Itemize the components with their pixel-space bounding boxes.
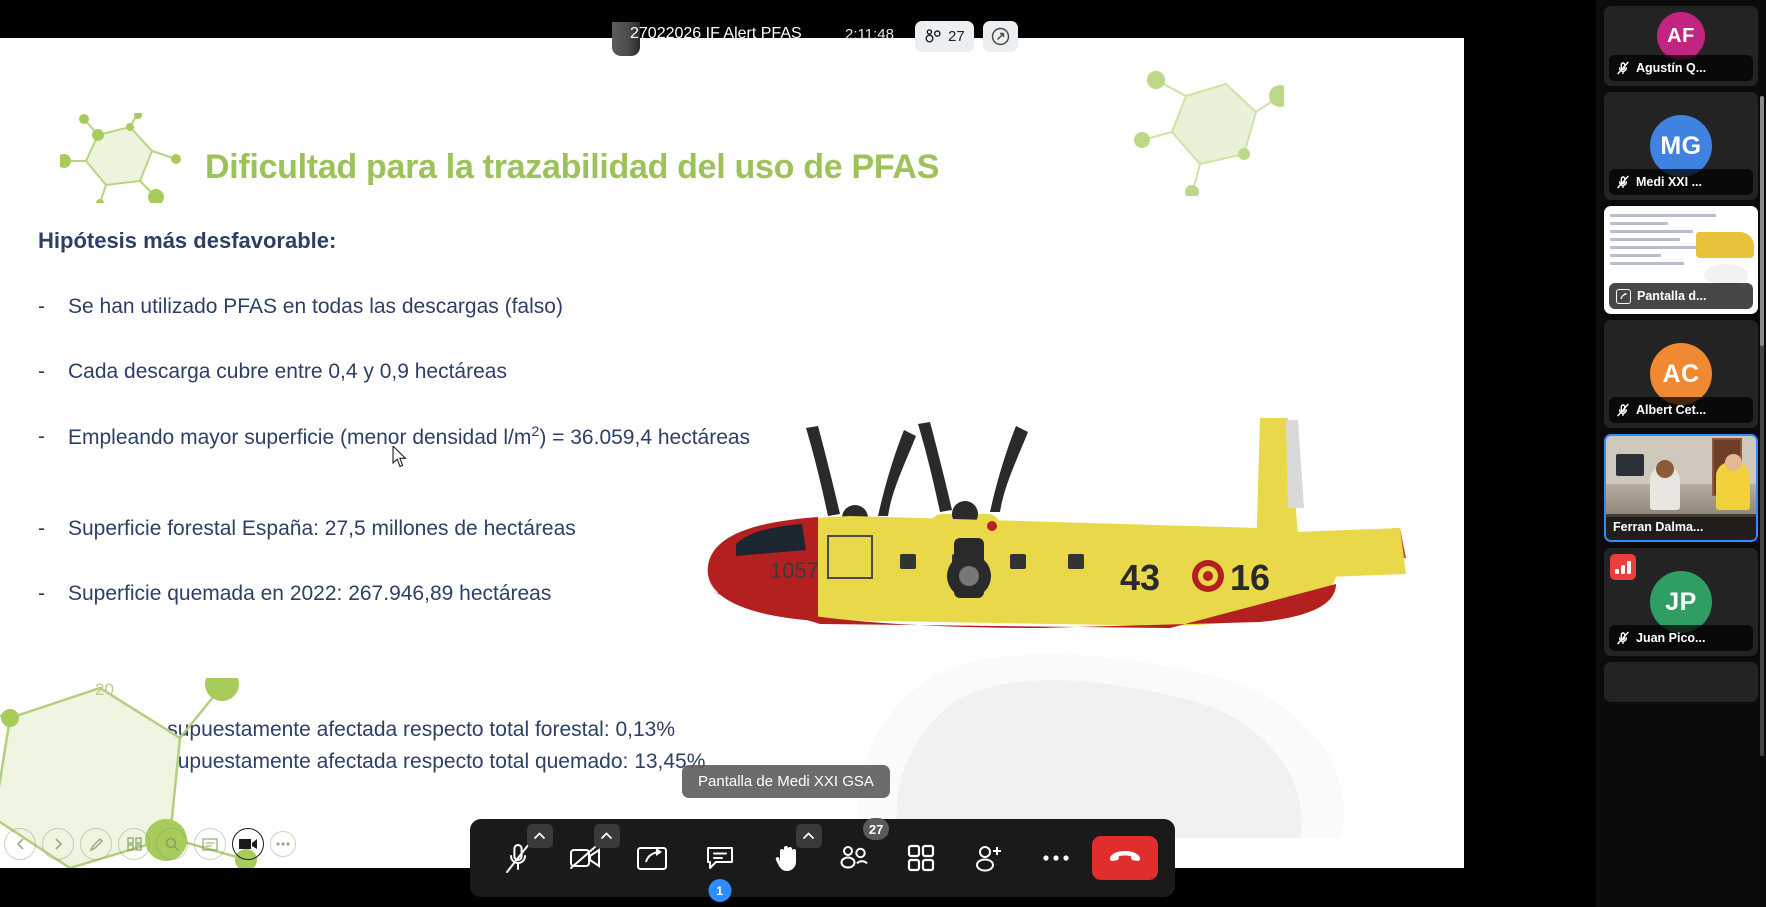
slide-bullet: - Cada descarga cubre entre 0,4 y 0,9 he… (38, 358, 507, 386)
shared-screen-slide[interactable]: Dificultad para la trazabilidad del uso … (0, 38, 1464, 868)
audio-options-caret[interactable] (527, 824, 553, 848)
participant-tile[interactable]: JP Juan Pico... (1604, 548, 1758, 656)
avatar: AF (1657, 12, 1705, 60)
molecule-decoration-left-icon (60, 113, 190, 203)
video-options-caret[interactable] (594, 824, 620, 848)
powerpoint-presenter-controls[interactable] (0, 828, 296, 860)
chevron-right-icon (53, 838, 64, 850)
bullet-dash: - (38, 423, 68, 452)
participants-button[interactable]: 27 (823, 828, 885, 888)
avatar: AC (1650, 343, 1712, 405)
ellipsis-icon (1041, 853, 1071, 863)
participant-name-bar: Medi XXI ... (1609, 169, 1753, 195)
chevron-up-icon (802, 832, 815, 840)
all-slides-button[interactable] (118, 828, 150, 860)
share-arrow-icon (1619, 292, 1628, 301)
zoom-meeting-window: Dificultad para la trazabilidad del uso … (0, 0, 1766, 907)
slide-number: 20 (95, 680, 114, 700)
sidebar-scrollbar-thumb[interactable] (1760, 96, 1764, 346)
share-screen-icon (1616, 289, 1631, 304)
recording-indicator[interactable] (983, 21, 1018, 52)
participants-count-badge: 27 (863, 818, 889, 840)
more-button[interactable] (1025, 828, 1087, 888)
grid-view-icon (907, 844, 935, 872)
participant-tile[interactable]: AC Albert Cet... (1604, 320, 1758, 428)
person-head (1725, 454, 1742, 471)
next-slide-button[interactable] (42, 828, 74, 860)
pen-tool-button[interactable] (80, 828, 112, 860)
raise-hand-icon (773, 842, 801, 874)
network-quality-icon (1610, 554, 1636, 580)
raise-hand-button[interactable] (756, 828, 818, 888)
slide-bullet: - Se han utilizado PFAS en todas las des… (38, 293, 563, 321)
present-button[interactable] (232, 828, 264, 860)
person-head (1656, 460, 1674, 478)
video-off-icon (568, 844, 602, 872)
add-person-icon (974, 843, 1004, 873)
participants-filmstrip[interactable]: AF Agustín Q... MG (1596, 0, 1766, 907)
grid-slides-icon (127, 837, 142, 851)
preview-plane-shape (1696, 232, 1754, 258)
screen-share-owner-pill: Pantalla de Medi XXI GSA (682, 765, 890, 798)
ellipsis-icon (275, 841, 291, 847)
avatar: JP (1650, 571, 1712, 633)
bullet-text: Se han utilizado PFAS en todas las desca… (68, 293, 563, 321)
bullet-text: Empleando mayor superficie (menor densid… (68, 423, 750, 452)
participant-name: Pantalla d... (1637, 289, 1706, 303)
start-video-button[interactable] (554, 828, 616, 888)
chevron-up-icon (600, 832, 613, 840)
density-prefix: Empleando mayor superficie (menor densid… (68, 426, 531, 449)
share-screen-icon (636, 844, 668, 872)
recording-indicator-icon (991, 27, 1010, 46)
reactions-caret[interactable] (796, 824, 822, 848)
molecule-decoration-right-icon (1134, 66, 1284, 196)
participant-name: Juan Pico... (1636, 631, 1705, 645)
meeting-title: 27022026 IF Alert PFAS (630, 25, 802, 43)
pen-icon (89, 837, 104, 852)
bullet-dash: - (38, 580, 68, 608)
mic-muted-icon (1616, 403, 1630, 417)
participant-name: Ferran Dalma... (1613, 520, 1703, 534)
share-screen-button[interactable] (621, 828, 683, 888)
bullet-dash: - (38, 358, 68, 386)
participant-name-bar: Ferran Dalma... (1606, 514, 1756, 540)
meeting-timer: 2:11:48 (845, 26, 894, 43)
captions-icon (202, 838, 218, 851)
people-icon (924, 29, 943, 44)
bullet-dash: - (38, 293, 68, 321)
participant-name-bar: Albert Cet... (1609, 397, 1753, 423)
participant-name-bar: Agustín Q... (1609, 55, 1753, 81)
chat-bubble-icon (705, 844, 735, 872)
slide-lead-text: Hipótesis más desfavorable: (38, 228, 336, 254)
zoom-tool-button[interactable] (156, 828, 188, 860)
participant-name: Agustín Q... (1636, 61, 1706, 75)
participant-tile[interactable]: AF Agustín Q... (1604, 6, 1758, 86)
end-call-icon (1109, 849, 1141, 867)
participant-name: Albert Cet... (1636, 403, 1706, 417)
slide-title: Dificultad para la trazabilidad del uso … (205, 148, 939, 187)
more-options-button[interactable] (270, 831, 296, 857)
mouse-cursor (392, 446, 408, 468)
participant-name-bar: Juan Pico... (1609, 625, 1753, 651)
subtitles-button[interactable] (194, 828, 226, 860)
bullet-text: Superficie forestal España: 27,5 millone… (68, 515, 576, 543)
unmute-button[interactable] (487, 828, 549, 888)
camera-video-icon (238, 837, 258, 851)
plane-tail-left: 43 (1120, 557, 1160, 598)
slide-bullet: - Superficie forestal España: 27,5 millo… (38, 515, 576, 543)
mic-muted-icon (1616, 631, 1630, 645)
participant-tile[interactable] (1604, 662, 1758, 702)
chevron-up-icon (533, 832, 546, 840)
chevron-left-icon (15, 838, 26, 850)
chat-unread-badge: 1 (708, 879, 731, 902)
bullet-text: Superficie quemada en 2022: 267.946,89 h… (68, 580, 551, 608)
chat-button[interactable]: 1 (689, 828, 751, 888)
top-participants-count[interactable]: 27 (915, 21, 974, 52)
participant-tile[interactable]: MG Medi XXI ... (1604, 92, 1758, 200)
bullet-dash: - (38, 515, 68, 543)
view-button[interactable] (890, 828, 952, 888)
prev-slide-button[interactable] (4, 828, 36, 860)
plane-tail-right: 16 (1230, 557, 1270, 598)
participant-name: Medi XXI ... (1636, 175, 1702, 189)
avatar: MG (1650, 115, 1712, 177)
mic-muted-icon (1616, 61, 1630, 75)
leave-meeting-button[interactable] (1092, 836, 1158, 880)
bullet-text: Cada descarga cubre entre 0,4 y 0,9 hect… (68, 358, 507, 386)
slide-bullet: - Superficie quemada en 2022: 267.946,89… (38, 580, 551, 608)
screenshare-tile[interactable]: Pantalla d... (1604, 206, 1758, 314)
room-monitor (1616, 454, 1644, 476)
participant-tile-active-speaker[interactable]: Ferran Dalma... (1604, 434, 1758, 542)
participant-name-bar: Pantalla d... (1609, 283, 1753, 309)
magnifier-icon (165, 837, 180, 852)
top-participants-label: 27 (948, 28, 965, 45)
invite-button[interactable] (958, 828, 1020, 888)
zoom-meeting-toolbar[interactable]: 1 27 (470, 819, 1175, 897)
people-icon (838, 845, 870, 871)
plane-side-number: 1057 (770, 558, 819, 583)
mic-muted-icon (1616, 175, 1630, 189)
